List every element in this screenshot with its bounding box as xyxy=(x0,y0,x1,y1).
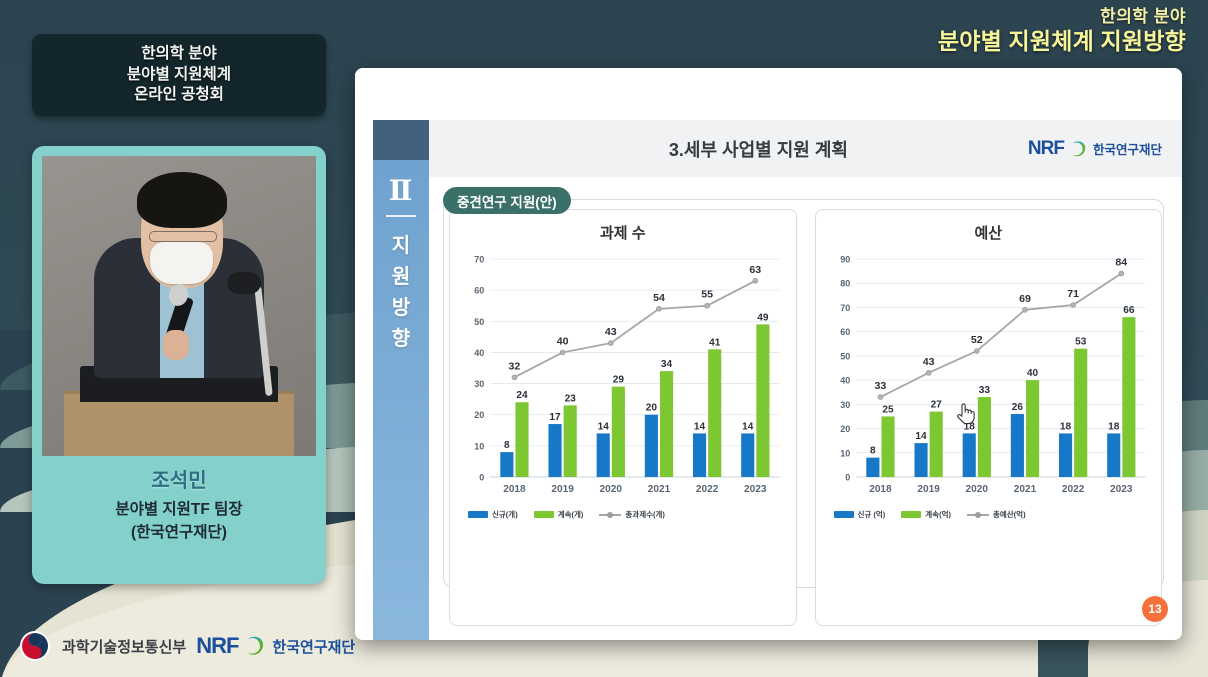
nrf-logo: NRF 한국연구재단 xyxy=(196,633,355,659)
svg-text:14: 14 xyxy=(915,431,927,442)
svg-text:41: 41 xyxy=(709,337,721,348)
presenter-video xyxy=(42,156,316,456)
nrf-name-text: 한국연구재단 xyxy=(272,636,355,657)
svg-text:70: 70 xyxy=(840,303,850,313)
svg-text:50: 50 xyxy=(474,317,484,327)
legend-label-cont: 계속(개) xyxy=(558,509,584,520)
svg-text:32: 32 xyxy=(509,360,521,372)
screen: 한의학 분야 분야별 지원체계 지원방향 한의학 분야 분야별 지원체계 온라인… xyxy=(0,0,1208,677)
svg-text:25: 25 xyxy=(882,404,894,415)
svg-text:18: 18 xyxy=(963,421,975,432)
legend-swatch-new xyxy=(468,511,488,518)
legend-swatch-new-budget xyxy=(834,511,854,518)
svg-text:24: 24 xyxy=(516,390,528,401)
event-title-line2: 분야별 지원체계 xyxy=(127,65,231,86)
legend-swatch-cont-budget xyxy=(901,511,921,518)
korea-government-emblem-icon xyxy=(18,629,52,663)
presenter-panel: 조석민 분야별 지원TF 팀장 (한국연구재단) xyxy=(32,146,326,584)
charts-row: 과제 수 01020304050607082420181723201914292… xyxy=(449,209,1162,626)
chart-plot-tasks: 0102030405060708242018172320191429202020… xyxy=(456,245,790,507)
legend-item-new-budget: 신규 (억) xyxy=(834,509,886,520)
svg-text:29: 29 xyxy=(613,375,625,386)
nrf-mark-text: NRF xyxy=(196,633,238,659)
slide-section-label: 지원방향 xyxy=(392,231,410,355)
svg-text:80: 80 xyxy=(840,279,850,289)
svg-text:2022: 2022 xyxy=(696,484,719,495)
svg-text:0: 0 xyxy=(479,473,484,483)
svg-text:43: 43 xyxy=(922,356,934,368)
svg-text:27: 27 xyxy=(930,400,942,411)
svg-text:2018: 2018 xyxy=(503,484,526,495)
presenter-role-text: 분야별 지원TF 팀장 xyxy=(115,501,242,518)
slide-section-sidebar: Ⅱ 지원방향 xyxy=(373,120,429,640)
legend-label-new: 신규(개) xyxy=(492,509,518,520)
legend-item-total-budget: 총예산(억) xyxy=(967,509,1026,520)
svg-text:2019: 2019 xyxy=(551,484,574,495)
slide-nrf-swoosh-icon xyxy=(1070,139,1087,159)
slide-section-divider xyxy=(386,215,416,217)
svg-text:8: 8 xyxy=(504,440,510,451)
svg-text:2018: 2018 xyxy=(869,484,892,495)
svg-text:20: 20 xyxy=(840,424,850,434)
slide-page-badge: 13 xyxy=(1142,596,1168,622)
svg-text:23: 23 xyxy=(565,393,577,404)
svg-text:40: 40 xyxy=(474,348,484,358)
svg-text:69: 69 xyxy=(1019,293,1031,305)
footer-logos: 과학기술정보통신부 NRF 한국연구재단 xyxy=(18,629,355,663)
legend-label-new-budget: 신규 (억) xyxy=(858,509,886,520)
presenter-name: 조석민 xyxy=(32,464,326,493)
presenter-role: 분야별 지원TF 팀장 (한국연구재단) xyxy=(32,498,326,545)
slide-nrf-logo: NRF 한국연구재단 xyxy=(1028,138,1182,160)
event-title-card: 한의학 분야 분야별 지원체계 온라인 공청회 xyxy=(32,34,326,116)
svg-text:18: 18 xyxy=(1059,421,1071,432)
legend-swatch-total xyxy=(599,514,621,516)
svg-text:30: 30 xyxy=(840,400,850,410)
svg-text:60: 60 xyxy=(474,286,484,296)
svg-text:10: 10 xyxy=(474,441,484,451)
svg-text:40: 40 xyxy=(557,335,569,347)
chart-card-budget: 예산 0102030405060708090825201814272019183… xyxy=(815,209,1163,626)
svg-text:50: 50 xyxy=(840,351,850,361)
slide-header: 3.세부 사업별 지원 계획 NRF 한국연구재단 xyxy=(429,120,1182,177)
svg-text:18: 18 xyxy=(1108,421,1120,432)
legend-item-total: 총과제수(개) xyxy=(599,509,665,520)
svg-text:2021: 2021 xyxy=(648,484,671,495)
svg-text:55: 55 xyxy=(701,289,713,301)
svg-text:2020: 2020 xyxy=(600,484,623,495)
slide-nrf-name: 한국연구재단 xyxy=(1093,139,1162,158)
legend-label-total-budget: 총예산(억) xyxy=(993,509,1026,520)
legend-label-total: 총과제수(개) xyxy=(625,509,665,520)
svg-text:2022: 2022 xyxy=(1061,484,1084,495)
svg-text:2023: 2023 xyxy=(744,484,767,495)
header-banner: 한의학 분야 분야별 지원체계 지원방향 xyxy=(938,6,1186,56)
svg-text:54: 54 xyxy=(653,292,665,304)
slide-header-title: 3.세부 사업별 지원 계획 xyxy=(429,136,1028,162)
svg-text:14: 14 xyxy=(694,421,706,432)
chart-title-tasks: 과제 수 xyxy=(456,222,790,243)
chart-legend-budget: 신규 (억) 계속(억) 총예산(억) xyxy=(822,507,1156,520)
svg-text:33: 33 xyxy=(874,380,886,392)
svg-text:49: 49 xyxy=(757,312,769,323)
presenter-org-text: (한국연구재단) xyxy=(131,524,227,541)
legend-label-cont-budget: 계속(억) xyxy=(925,509,951,520)
slide-window[interactable]: Ⅱ 지원방향 3.세부 사업별 지원 계획 NRF 한국연구재단 xyxy=(355,68,1182,640)
svg-text:70: 70 xyxy=(474,255,484,265)
svg-text:20: 20 xyxy=(646,403,658,414)
svg-text:84: 84 xyxy=(1115,257,1127,269)
svg-text:53: 53 xyxy=(1075,337,1087,348)
section-pill: 중견연구 지원(안) xyxy=(443,187,571,214)
svg-text:2019: 2019 xyxy=(917,484,940,495)
slide-body: 중견연구 지원(안) 과제 수 010203040506070824201817… xyxy=(429,177,1182,640)
svg-text:14: 14 xyxy=(598,421,610,432)
slide-nrf-mark: NRF xyxy=(1028,138,1064,160)
legend-item-cont-budget: 계속(억) xyxy=(901,509,951,520)
svg-text:34: 34 xyxy=(661,359,673,370)
svg-text:17: 17 xyxy=(549,412,561,423)
svg-text:52: 52 xyxy=(970,334,982,346)
chart-legend-tasks: 신규(개) 계속(개) 총과제수(개) xyxy=(456,507,790,520)
event-title-line3: 온라인 공청회 xyxy=(134,85,224,106)
ministry-name: 과학기술정보통신부 xyxy=(62,636,186,657)
svg-text:40: 40 xyxy=(1026,368,1038,379)
svg-text:30: 30 xyxy=(474,379,484,389)
event-title-line1: 한의학 분야 xyxy=(141,44,217,65)
svg-text:71: 71 xyxy=(1067,288,1079,300)
header-title: 분야별 지원체계 지원방향 xyxy=(938,27,1186,56)
legend-swatch-cont xyxy=(534,511,554,518)
chart-card-tasks: 과제 수 01020304050607082420181723201914292… xyxy=(449,209,797,626)
svg-text:10: 10 xyxy=(840,448,850,458)
svg-text:33: 33 xyxy=(978,385,990,396)
svg-text:43: 43 xyxy=(605,326,617,338)
svg-text:60: 60 xyxy=(840,327,850,337)
slide-section-roman: Ⅱ xyxy=(389,178,414,206)
legend-item-new: 신규(개) xyxy=(468,509,518,520)
svg-text:8: 8 xyxy=(870,446,876,457)
svg-text:40: 40 xyxy=(840,376,850,386)
svg-text:66: 66 xyxy=(1123,305,1135,316)
svg-text:0: 0 xyxy=(845,473,850,483)
svg-text:14: 14 xyxy=(742,421,754,432)
svg-text:63: 63 xyxy=(749,264,761,276)
svg-text:2021: 2021 xyxy=(1013,484,1036,495)
legend-swatch-total-budget xyxy=(967,514,989,516)
chart-title-budget: 예산 xyxy=(822,222,1156,243)
nrf-swoosh-icon xyxy=(245,634,265,658)
legend-item-cont: 계속(개) xyxy=(534,509,584,520)
svg-text:2020: 2020 xyxy=(965,484,988,495)
svg-text:20: 20 xyxy=(474,410,484,420)
svg-text:90: 90 xyxy=(840,255,850,265)
svg-text:2023: 2023 xyxy=(1110,484,1133,495)
svg-text:26: 26 xyxy=(1011,402,1023,413)
chart-plot-budget: 0102030405060708090825201814272019183320… xyxy=(822,245,1156,507)
header-subtitle: 한의학 분야 xyxy=(938,6,1186,27)
